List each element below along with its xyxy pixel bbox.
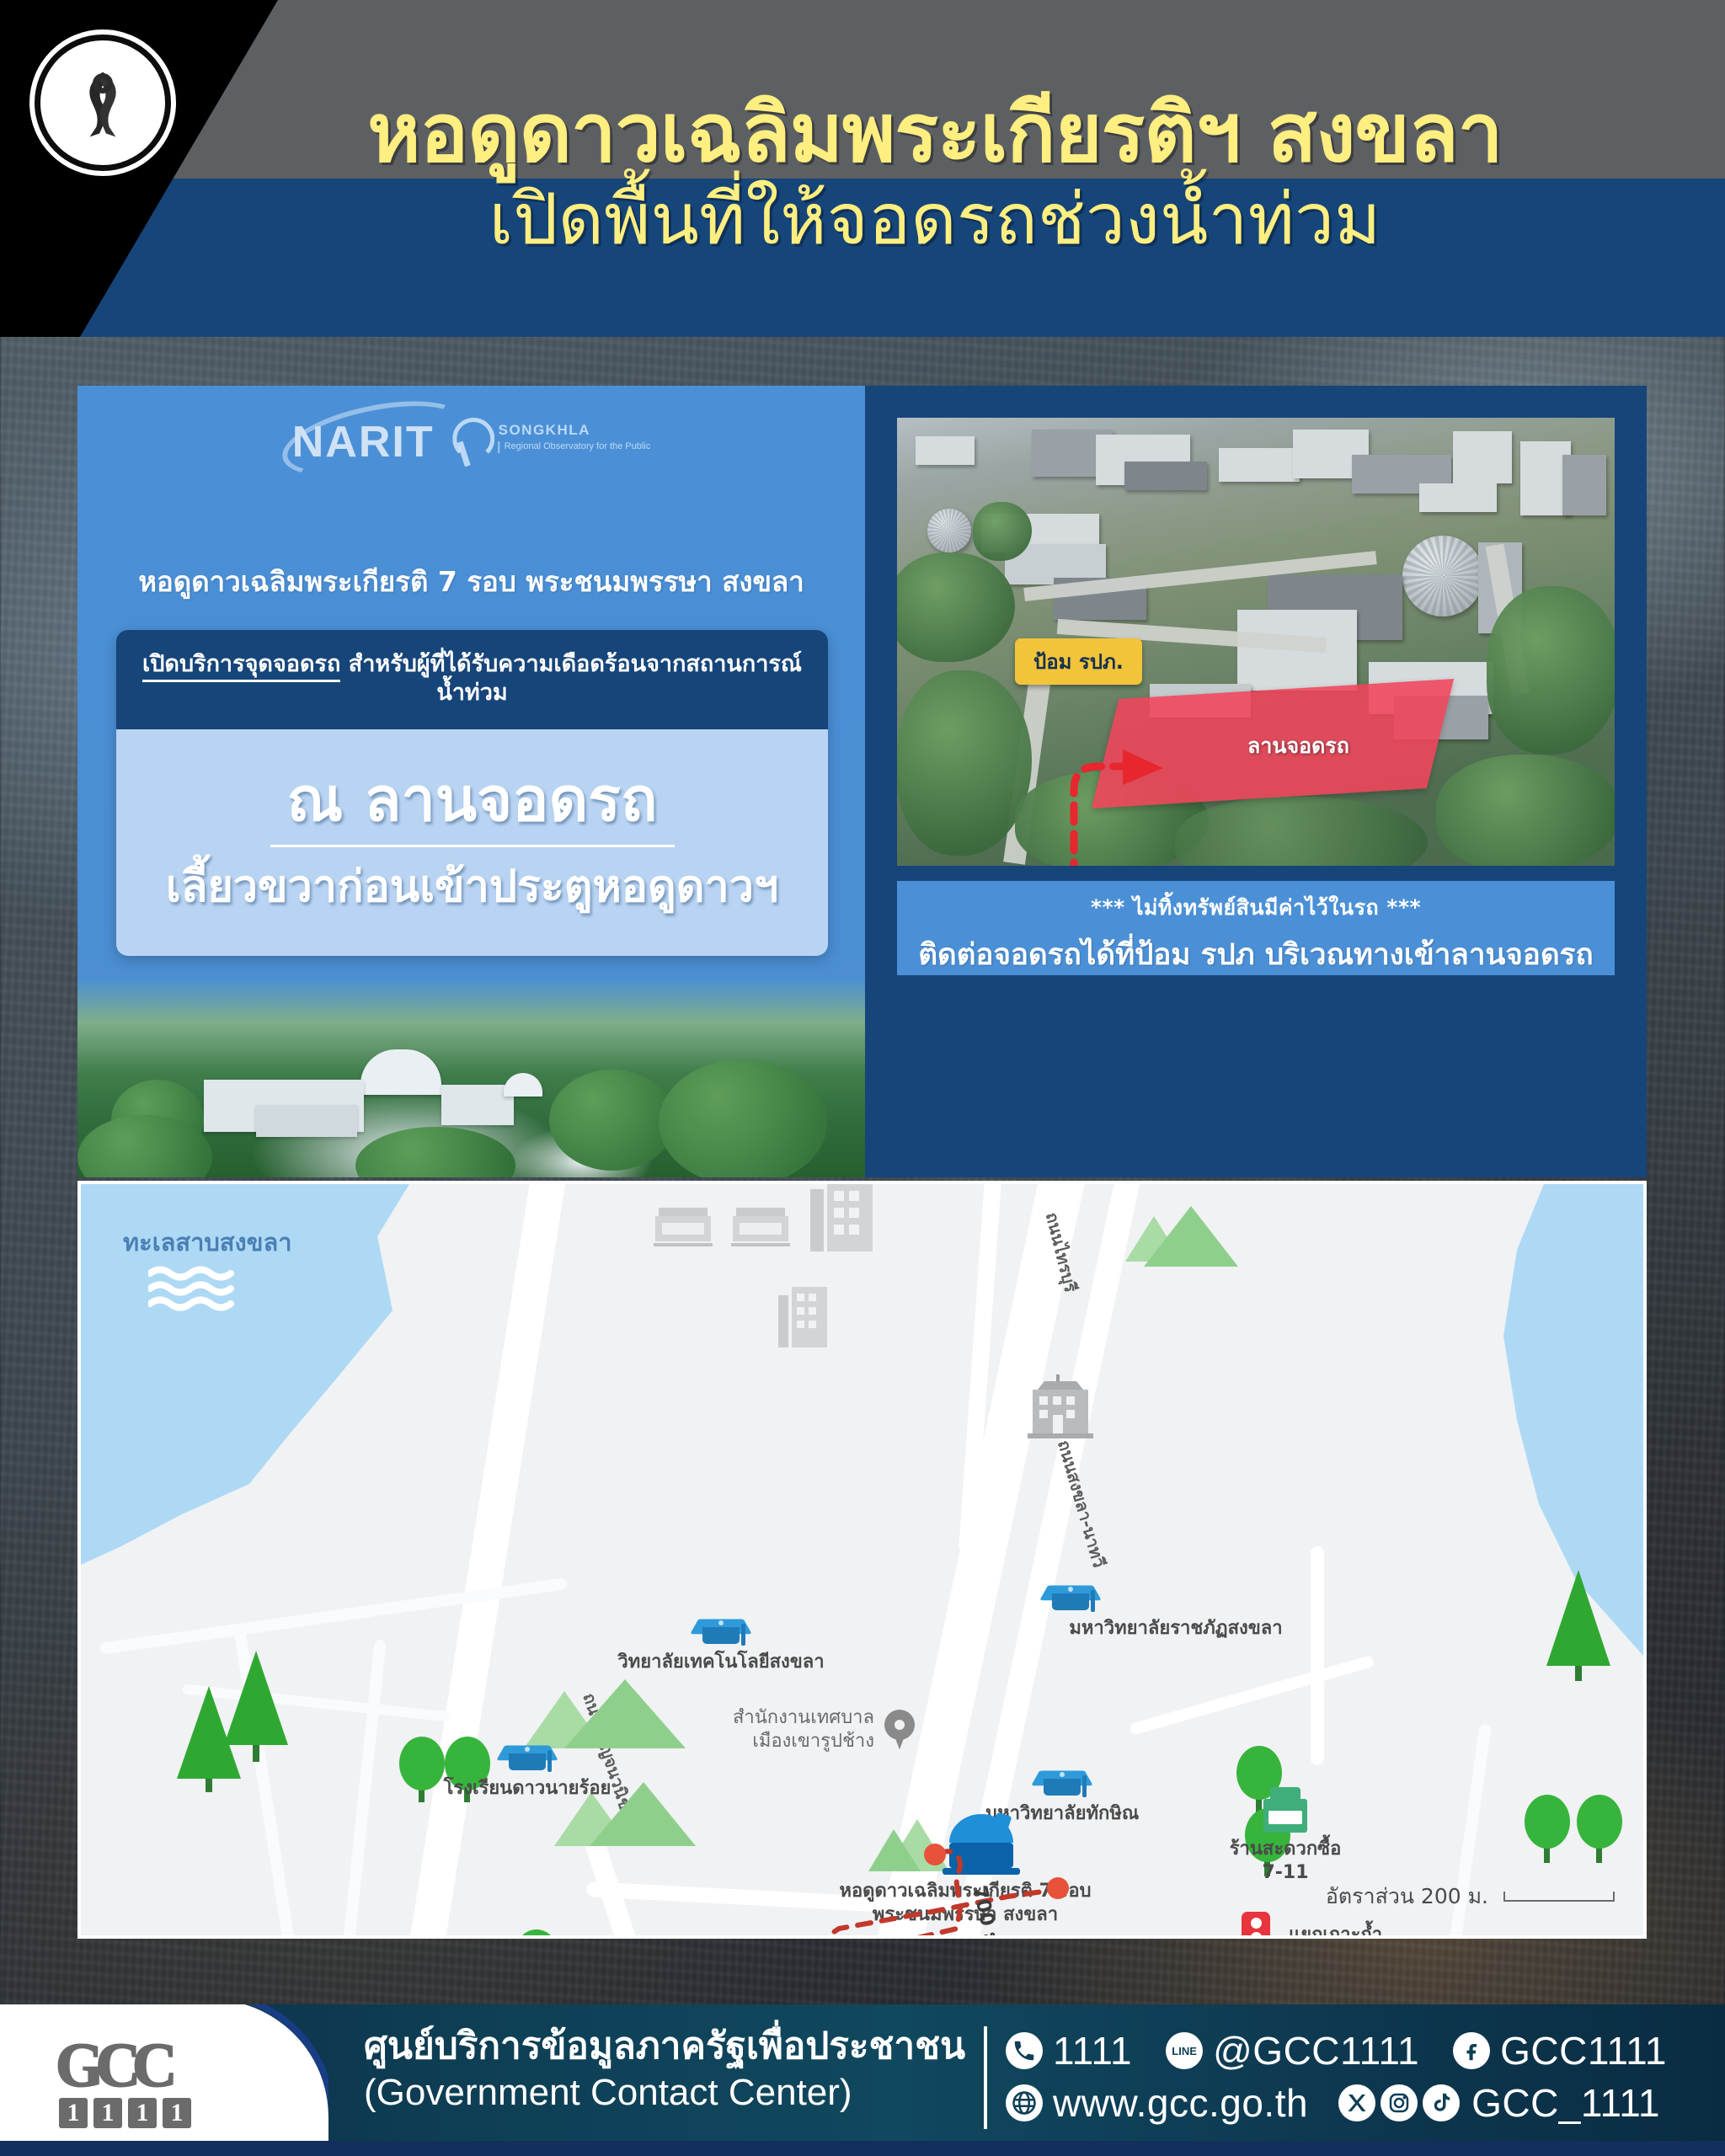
announcement-card-header: เปิดบริการจุดจอดรถ สำหรับผู้ที่ได้รับควา… — [116, 630, 828, 729]
facebook-handle: GCC1111 — [1500, 2031, 1667, 2070]
line-icon: LINE — [1166, 2032, 1203, 2069]
tree-shape — [549, 1070, 676, 1171]
poster-right-panel: ลานจอดรถ ป้อม รปภ. *** ไม่ทิ้งทรัพย์สินม… — [865, 386, 1647, 1177]
building-shape — [1219, 448, 1300, 482]
gcc-logo: G C C 1 1 1 1 — [56, 2038, 191, 2128]
poster-subtitle: หอดูดาวเฉลิมพระเกียรติ 7 รอบ พระชนมพรรษา… — [77, 559, 865, 604]
scale-label: อัตราส่วน 200 ม. — [1326, 1880, 1488, 1913]
footer-divider — [984, 2026, 987, 2129]
globe-icon — [1006, 2084, 1043, 2121]
entry-arrow-icon — [1045, 689, 1180, 866]
title-line-1: หอดูดาวเฉลิมพระเกียรติฯ สงขลา — [211, 91, 1659, 176]
aerial-photo: ลานจอดรถ ป้อม รปภ. — [897, 418, 1615, 866]
page-header: หอดูดาวเฉลิมพระเกียรติฯ สงขลา เปิดพื้นที… — [0, 0, 1725, 337]
contact-facebook[interactable]: GCC1111 — [1453, 2031, 1667, 2070]
phone-number: 1111 — [1053, 2031, 1132, 2070]
building-shape — [256, 1105, 357, 1137]
announcement-card-body: ณ ลานจอดรถ เลี้ยวขวาก่อนเข้าประตูหอดูดาว… — [116, 729, 828, 957]
caption-line-1: *** ไม่ทิ้งทรัพย์สินมีค่าไว้ในรถ *** — [897, 891, 1615, 925]
vegetation-shape — [897, 552, 1015, 662]
announcement-header-rest: สำหรับผู้ที่ได้รับความเดือดร้อนจากสถานกา… — [340, 651, 802, 706]
vegetation-shape — [1175, 797, 1428, 866]
building-shape — [1124, 462, 1207, 490]
tiktok-icon — [1423, 2084, 1460, 2121]
phone-icon — [1006, 2032, 1043, 2069]
footer-org-name: ศูนย์บริการข้อมูลภาครัฐเพื่อประชาชน (Gov… — [364, 2023, 965, 2116]
page-footer: G C C 1 1 1 1 ศูนย์บริการข้อมูลภาครัฐเพื… — [0, 2004, 1725, 2156]
contact-phone[interactable]: 1111 — [1006, 2031, 1132, 2070]
x-icon — [1338, 2084, 1375, 2121]
guard-post-badge: ป้อม รปภ. — [1015, 638, 1142, 685]
songkhla-observatory-logo: SONGKHLA Regional Observatory for the Pu… — [448, 416, 651, 468]
contact-website[interactable]: www.gcc.go.th — [1006, 2084, 1308, 2122]
caption-line-2: ติดต่อจอดรถได้ที่ป้อม รปภ บริเวณทางเข้าล… — [897, 931, 1615, 978]
dome-shape — [504, 1073, 542, 1097]
footer-contact-row-2: www.gcc.go.th GCC_1111 — [1006, 2077, 1667, 2129]
dome-shape — [360, 1049, 441, 1095]
instagram-icon — [1381, 2084, 1418, 2121]
contact-line[interactable]: LINE @GCC1111 — [1166, 2031, 1419, 2070]
radar-dome-icon — [927, 509, 971, 552]
route-line — [81, 1184, 1647, 1939]
gcc-letters: G C C — [56, 2038, 191, 2095]
gcc-numbers: 1 1 1 1 — [59, 2098, 191, 2128]
mourning-ribbon-icon — [40, 40, 165, 165]
social-handle: GCC_1111 — [1471, 2084, 1660, 2122]
planetarium-dome-icon — [1402, 536, 1483, 616]
map-scale: อัตราส่วน 200 ม. — [1326, 1880, 1615, 1913]
announcement-divider — [270, 845, 675, 847]
footer-contacts: 1111 LINE @GCC1111 GCC1111 — [1006, 2025, 1667, 2129]
tree-shape — [659, 1059, 827, 1177]
org-name-english: (Government Contact Center) — [364, 2069, 965, 2116]
contact-social[interactable]: GCC_1111 — [1338, 2084, 1660, 2122]
announcement-header-text: เปิดบริการจุดจอดรถ สำหรับผู้ที่ได้รับควา… — [136, 650, 808, 707]
footer-bottom-strip — [0, 2141, 1725, 2156]
location-map[interactable]: ทะเลสาบสงขลา ถนนไทรบุรี ถนนสงขลา-นาทวี ถ… — [77, 1181, 1647, 1939]
announcement-header-underlined: เปิดบริการจุดจอดรถ — [142, 651, 340, 682]
songkhla-logo-line1: SONGKHLA — [499, 421, 651, 439]
narit-logo: NARIT SONGKHLA Regional Observatory for … — [292, 416, 651, 468]
scale-bar-line — [1503, 1892, 1615, 1902]
gcc-number-1: 1 — [59, 2098, 88, 2128]
website-url: www.gcc.go.th — [1053, 2084, 1308, 2122]
line-id: @GCC1111 — [1213, 2031, 1419, 2070]
building-shape — [1562, 455, 1606, 515]
org-name-thai: ศูนย์บริการข้อมูลภาครัฐเพื่อประชาชน — [364, 2023, 965, 2069]
poster-left-panel: NARIT SONGKHLA Regional Observatory for … — [77, 386, 865, 1177]
gcc-number-4: 1 — [163, 2098, 191, 2128]
right-panel-caption: *** ไม่ทิ้งทรัพย์สินมีค่าไว้ในรถ *** ติด… — [897, 881, 1615, 975]
page-title: หอดูดาวเฉลิมพระเกียรติฯ สงขลา เปิดพื้นที… — [211, 91, 1659, 259]
songkhla-logo-line2: Regional Observatory for the Public — [499, 441, 651, 453]
building-shape — [1453, 431, 1512, 483]
building-shape — [916, 436, 975, 465]
telescope-icon — [448, 416, 492, 468]
footer-contact-row-1: 1111 LINE @GCC1111 GCC1111 — [1006, 2025, 1667, 2077]
building-shape — [1419, 483, 1497, 512]
gcc-number-2: 1 — [93, 2098, 122, 2128]
facebook-icon — [1453, 2032, 1490, 2069]
announcement-card: เปิดบริการจุดจอดรถ สำหรับผู้ที่ได้รับควา… — [116, 630, 828, 956]
parking-lot-label: ลานจอดรถ — [1247, 729, 1349, 763]
announcement-sub-text: เลี้ยวขวาก่อนเข้าประตูหอดูดาวฯ — [133, 862, 811, 913]
narit-swoosh-icon — [275, 387, 470, 490]
gcc-number-3: 1 — [128, 2098, 157, 2128]
observatory-hill-photo — [77, 979, 865, 1177]
announcement-big-text: ณ ลานจอดรถ — [133, 766, 811, 833]
vegetation-shape — [1487, 586, 1615, 755]
title-line-2: เปิดพื้นที่ให้จอดรถช่วงน้ำท่วม — [211, 179, 1659, 259]
gcc-letter-c2: C — [132, 2038, 177, 2095]
vegetation-shape — [1436, 755, 1615, 866]
tree-shape — [355, 1127, 515, 1177]
